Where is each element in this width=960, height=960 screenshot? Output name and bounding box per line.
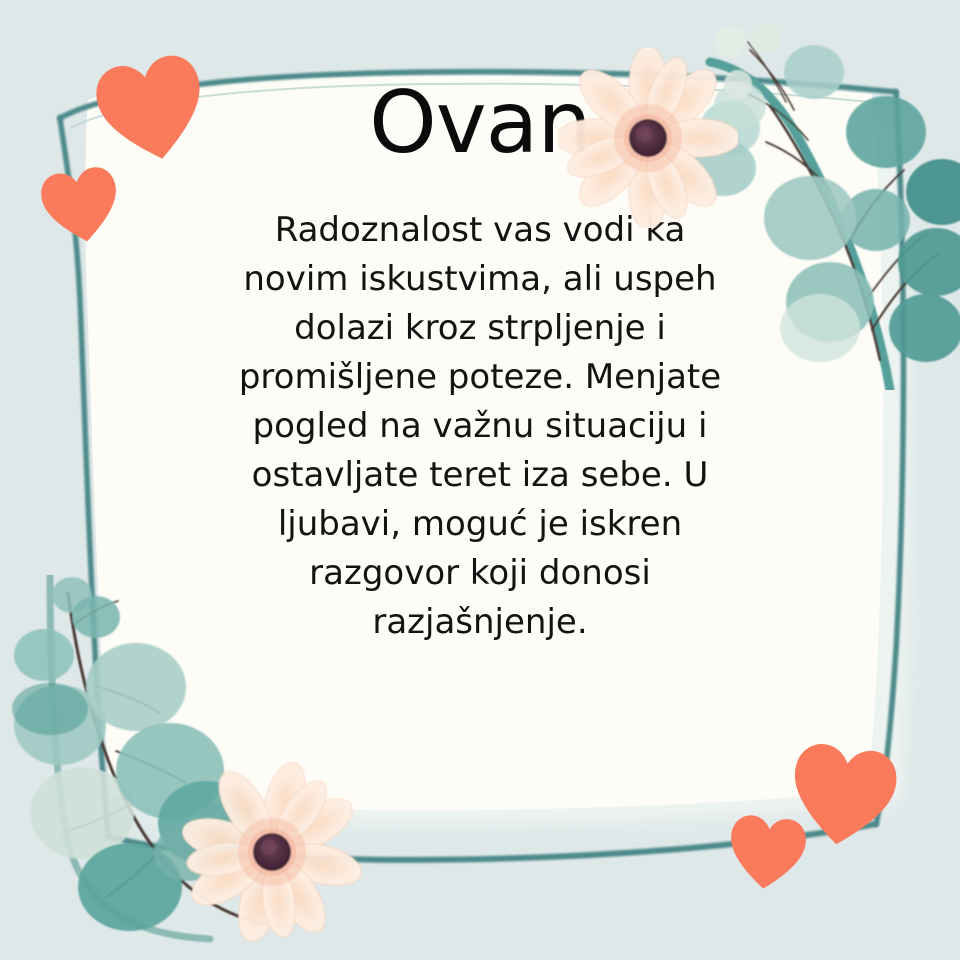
heart-top-left-large [88, 48, 215, 172]
anemone-flower-bottom [182, 762, 362, 942]
zodiac-horoscope-card: Ovan Radoznalost vas vodi ka novim iskus… [0, 0, 960, 960]
heart-top-left-small [36, 162, 126, 250]
horoscope-text: Radoznalost vas vodi ka novim iskustvima… [232, 206, 728, 647]
anemone-flower-top [558, 48, 738, 228]
heart-bottom-right-small [724, 811, 810, 895]
